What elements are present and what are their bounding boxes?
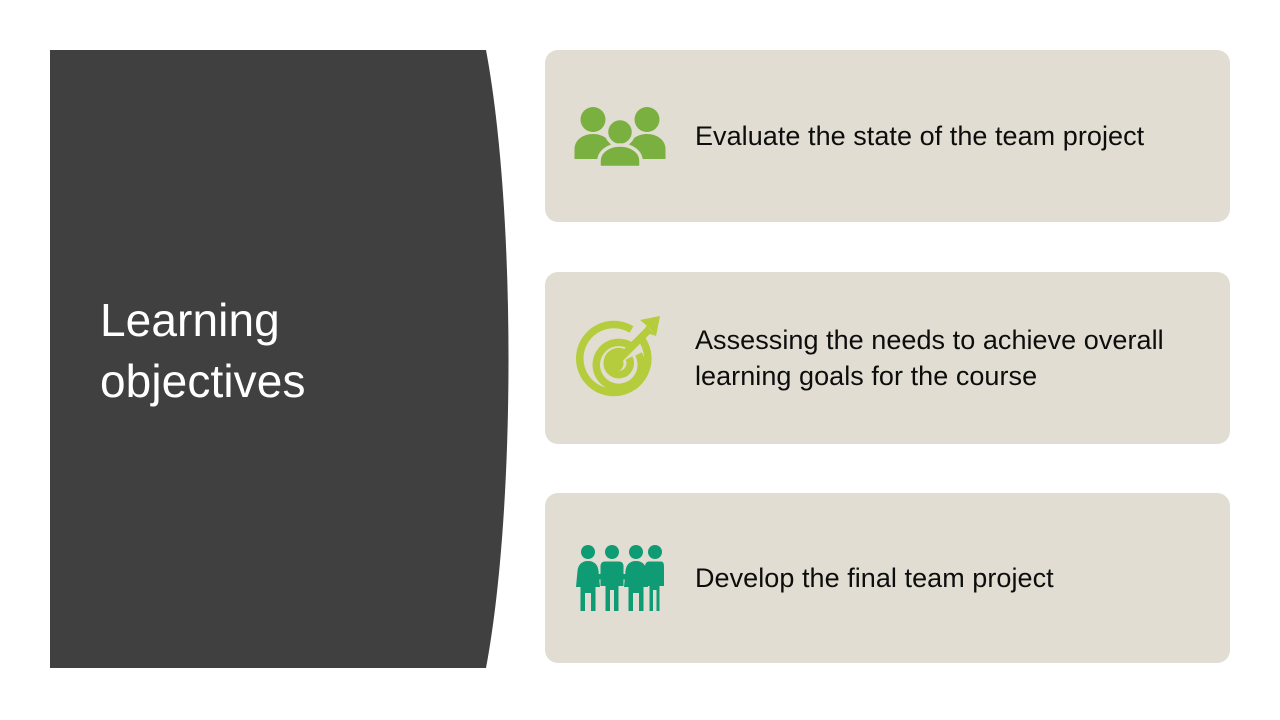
four-people-standing-icon <box>576 544 664 612</box>
objective-card[interactable]: Assessing the needs to achieve overall l… <box>545 272 1230 444</box>
title-panel: Learning objectives <box>50 50 514 668</box>
slide-canvas: Learning objectives Evaluate the state o… <box>0 0 1280 720</box>
objective-card[interactable]: Evaluate the state of the team project <box>545 50 1230 222</box>
objective-card[interactable]: Develop the final team project <box>545 493 1230 663</box>
objectives-list: Evaluate the state of the team project <box>545 50 1230 663</box>
objective-text: Evaluate the state of the team project <box>695 118 1230 154</box>
group-of-people-icon <box>574 104 666 168</box>
objective-icon-wrapper <box>545 493 695 663</box>
objective-icon-wrapper <box>545 50 695 222</box>
objective-text: Assessing the needs to achieve overall l… <box>695 322 1230 394</box>
objective-icon-wrapper <box>545 272 695 444</box>
page-title: Learning objectives <box>100 290 430 411</box>
objective-text: Develop the final team project <box>695 560 1230 596</box>
target-with-arrow-icon <box>574 313 666 403</box>
